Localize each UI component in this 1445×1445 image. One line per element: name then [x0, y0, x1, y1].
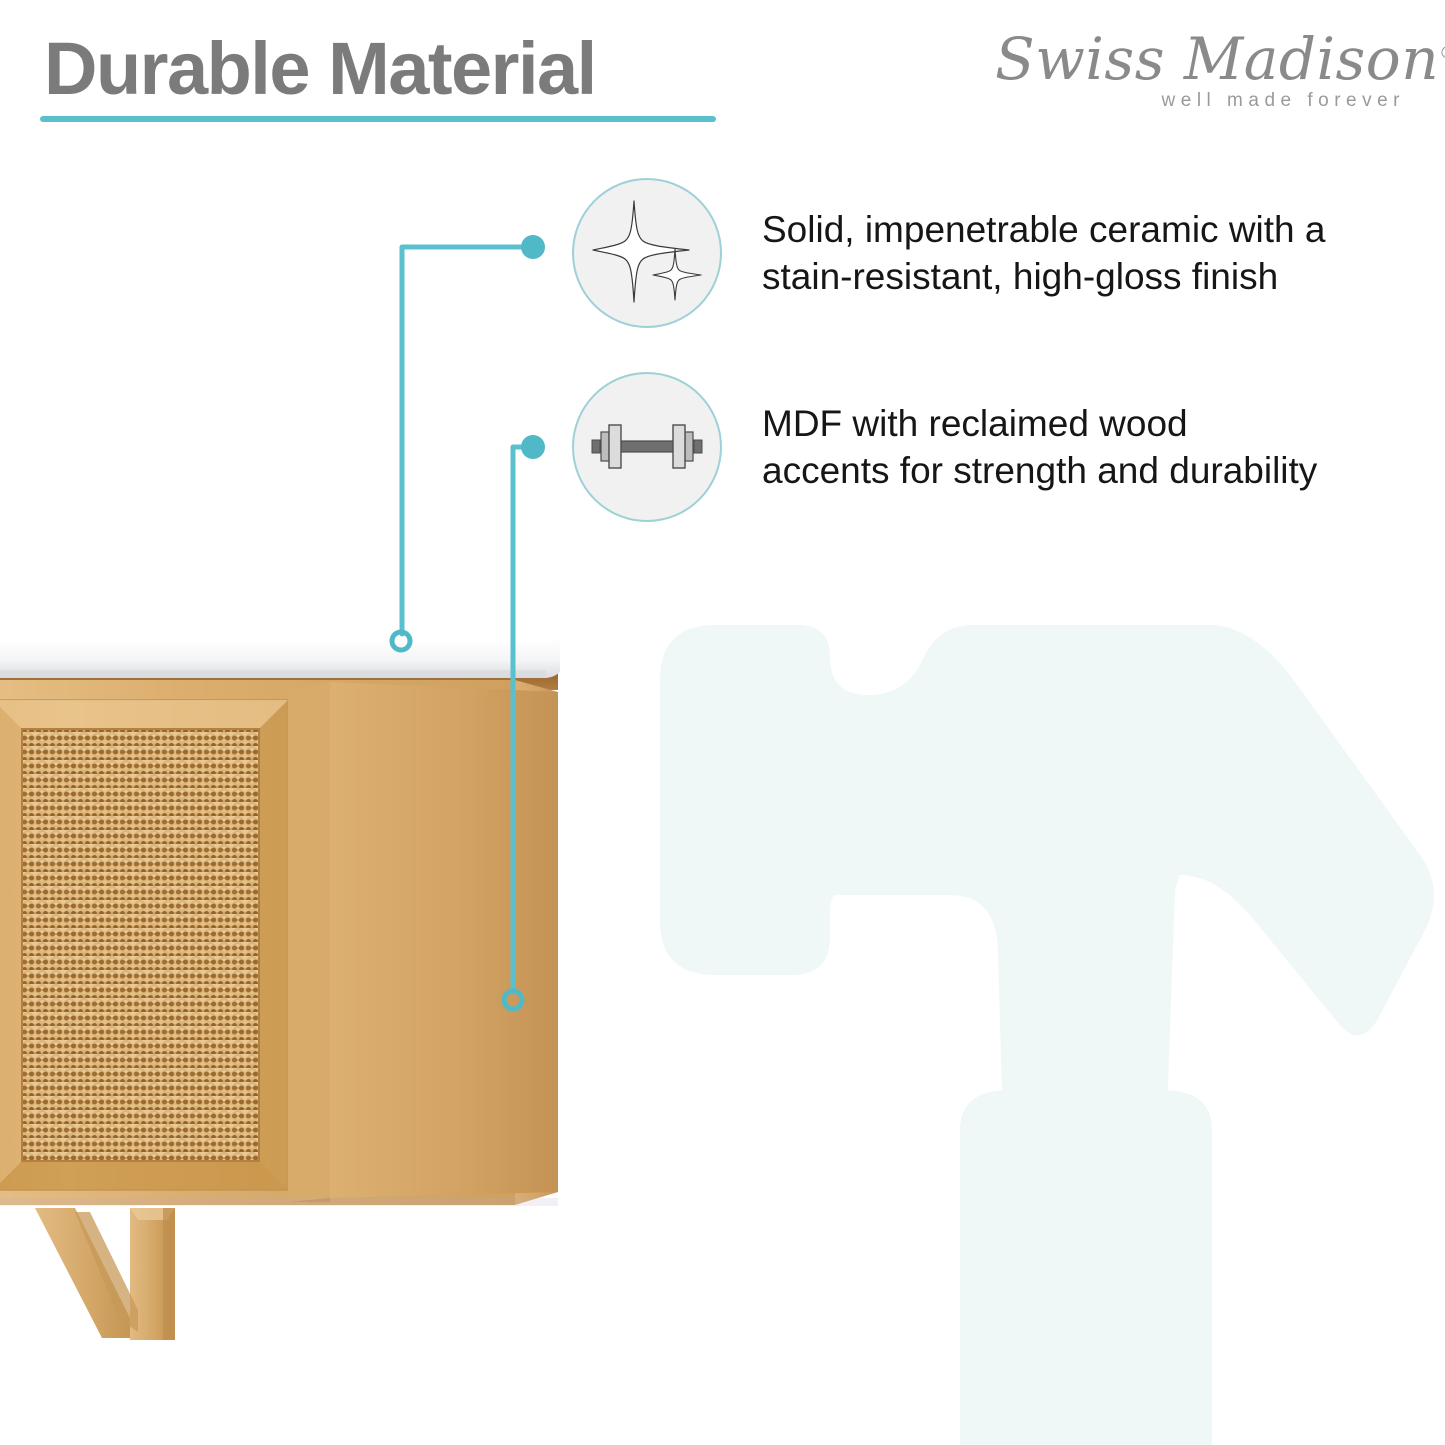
brand-name-text: Swiss Madison [995, 25, 1439, 93]
brand-logo: Swiss Madison® well made forever [995, 30, 1415, 130]
feature-text-1: Solid, impenetrable ceramic with a stain… [762, 206, 1325, 301]
product-image-vanity [0, 620, 560, 1340]
registered-trademark-icon: ® [1439, 44, 1445, 64]
feature-callout-ceramic: Solid, impenetrable ceramic with a stain… [572, 178, 1325, 328]
connector-line-1 [402, 247, 531, 634]
infographic-page: Durable Material Swiss Madison® well mad… [0, 0, 1445, 1445]
brand-name: Swiss Madison® [995, 30, 1415, 88]
feature-text-1-line-2: stain-resistant, high-gloss finish [762, 253, 1325, 300]
title-underline [40, 116, 716, 122]
feature-text-2-line-1: MDF with reclaimed wood [762, 400, 1317, 447]
feature-text-2-line-2: accents for strength and durability [762, 447, 1317, 494]
feature-text-1-line-1: Solid, impenetrable ceramic with a [762, 206, 1325, 253]
feature-callout-mdf: MDF with reclaimed wood accents for stre… [572, 372, 1317, 522]
feature-icon-circle-1 [572, 178, 722, 328]
brand-tagline: well made forever [995, 90, 1405, 112]
connector-dot-1 [521, 235, 545, 259]
page-title: Durable Material [44, 32, 596, 106]
hammer-icon [650, 585, 1445, 1445]
feature-icon-circle-2 [572, 372, 722, 522]
feature-text-2: MDF with reclaimed wood accents for stre… [762, 400, 1317, 495]
dumbbell-icon [588, 404, 706, 490]
sparkle-icon [591, 197, 703, 309]
connector-dot-2 [521, 435, 545, 459]
